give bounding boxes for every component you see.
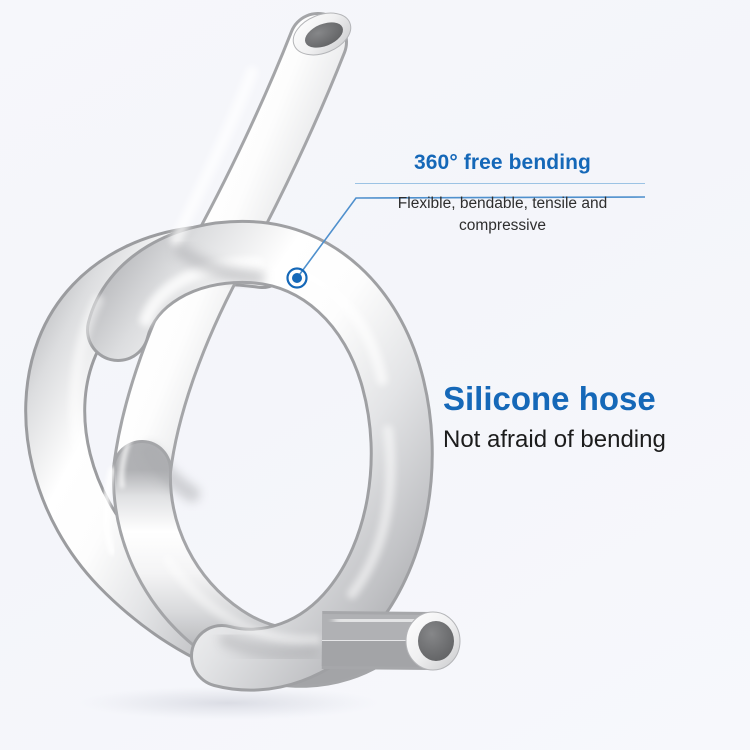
product-banner: 360° free bending Flexible, bendable, te… xyxy=(0,0,750,750)
product-subtitle: Not afraid of bending xyxy=(443,426,733,454)
headline-block: Silicone hose Not afraid of bending xyxy=(443,381,733,454)
ground-shadow xyxy=(78,686,378,720)
product-title: Silicone hose xyxy=(443,381,733,418)
callout-text-block: 360° free bending Flexible, bendable, te… xyxy=(355,150,650,237)
callout-body-text: Flexible, bendable, tensile and compress… xyxy=(355,193,650,237)
callout-divider xyxy=(355,183,645,184)
silicone-hose-illustration xyxy=(0,0,750,750)
tube-open-end-bottom xyxy=(406,612,460,670)
callout-title: 360° free bending xyxy=(355,150,650,175)
